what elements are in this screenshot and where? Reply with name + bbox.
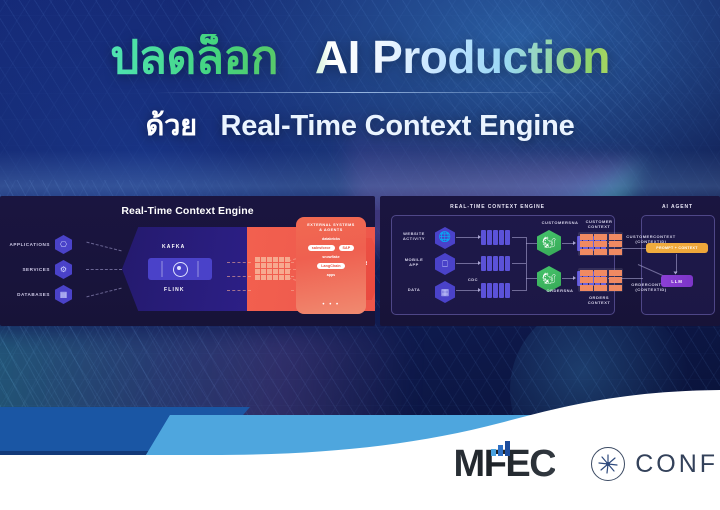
- database-icon: ▦: [55, 285, 72, 304]
- apps-logo: apps: [327, 273, 335, 277]
- mfec-bars-icon: [491, 440, 513, 456]
- salesforce-logo: salesforce: [308, 245, 335, 251]
- source-data-label: DATA: [396, 287, 432, 292]
- footer: MFEC CON: [0, 418, 720, 510]
- right-diagram-panel: REAL-TIME CONTEXT ENGINE AI AGENT WEBSIT…: [380, 196, 720, 326]
- context-grid-icon: [255, 257, 290, 280]
- source-services-label: SERVICES: [2, 267, 50, 272]
- page-title-thai: ปลดล็อก: [110, 31, 278, 83]
- source-applications: APPLICATIONS ⎔: [2, 235, 72, 254]
- connector-services: [86, 269, 122, 270]
- page-title-english: AI Production: [315, 31, 610, 83]
- external-systems-card: EXTERNAL SYSTEMS& AGENTS databricks sale…: [296, 217, 366, 314]
- ai-agent-title: AI AGENT: [635, 204, 720, 210]
- title-divider: [155, 92, 565, 93]
- source-applications-label: APPLICATIONS: [2, 242, 50, 247]
- orders-context-label: ORDERSCONTEXT: [572, 295, 626, 306]
- right-panel-title: REAL-TIME CONTEXT ENGINE: [380, 204, 615, 210]
- agent-container: [641, 215, 715, 315]
- topic-data: [481, 283, 510, 298]
- kafka-logo-icon: [173, 262, 188, 277]
- external-systems-heading: EXTERNAL SYSTEMS& AGENTS: [307, 223, 355, 233]
- kafka-broker-icon: [148, 258, 212, 280]
- sap-logo: SAP: [339, 245, 355, 251]
- llm-box: LLM: [661, 275, 693, 287]
- prompt-context-box: PROMPT + CONTEXT: [646, 243, 708, 253]
- subtitle-english: Real-Time Context Engine: [221, 110, 575, 142]
- diagram-band: Real-Time Context Engine APPLICATIONS ⎔ …: [0, 196, 720, 326]
- customer-context-table: [578, 232, 623, 256]
- confluent-glyph-icon: [597, 453, 619, 475]
- flink-label: FLINK: [164, 287, 185, 293]
- customer-context-label: CUSTOMERCONTEXT: [572, 219, 626, 230]
- source-services: SERVICES ⚙: [2, 260, 72, 279]
- topic-website: [481, 230, 510, 245]
- connector-applications: [86, 242, 121, 252]
- gear-icon: ⚙: [55, 260, 72, 279]
- connector-databases: [86, 288, 121, 298]
- confluent-logo: CONFLU: [591, 447, 720, 481]
- source-mobile-app-label: MOBILEAPP: [396, 257, 432, 268]
- source-databases: DATABASES ▦: [2, 285, 72, 304]
- source-databases-label: DATABASES: [2, 292, 50, 297]
- page-subtitle: ด้วย Real-Time Context Engine: [0, 102, 720, 148]
- logo-row-2: salesforce SAP: [300, 245, 362, 251]
- devices-icon: ⎔: [55, 235, 72, 254]
- cdc-edge-label: CDC: [462, 277, 484, 282]
- source-website-activity-label: WEBSITEACTIVITY: [396, 231, 432, 242]
- langchain-logo: LangChain: [317, 263, 344, 269]
- snowflake-logo: snowflake: [322, 255, 339, 259]
- page-title: ปลดล็อก AI Production: [0, 34, 720, 81]
- topic-mobile: [481, 256, 510, 271]
- databricks-logo: databricks: [322, 237, 340, 241]
- left-panel-title: Real-Time Context Engine: [0, 205, 375, 217]
- orders-context-table: [578, 268, 623, 292]
- confluent-logo-text: CONFLU: [635, 450, 720, 479]
- mfec-logo: MFEC: [454, 443, 556, 486]
- more-logos-indicator: • • •: [322, 302, 339, 308]
- subtitle-thai: ด้วย: [145, 110, 197, 142]
- logo-row-4: LangChain: [300, 263, 362, 269]
- confluent-mark-icon: [591, 447, 625, 481]
- left-diagram-panel: Real-Time Context Engine APPLICATIONS ⎔ …: [0, 196, 375, 326]
- kafka-label: KAFKA: [162, 244, 186, 250]
- logo-row-3: snowflake: [300, 255, 362, 259]
- logo-row-5: apps: [300, 273, 362, 277]
- poster-canvas: ปลดล็อก AI Production ด้วย Real-Time Con…: [0, 0, 720, 510]
- logo-row-1: databricks: [300, 237, 362, 241]
- header: ปลดล็อก AI Production ด้วย Real-Time Con…: [0, 34, 720, 148]
